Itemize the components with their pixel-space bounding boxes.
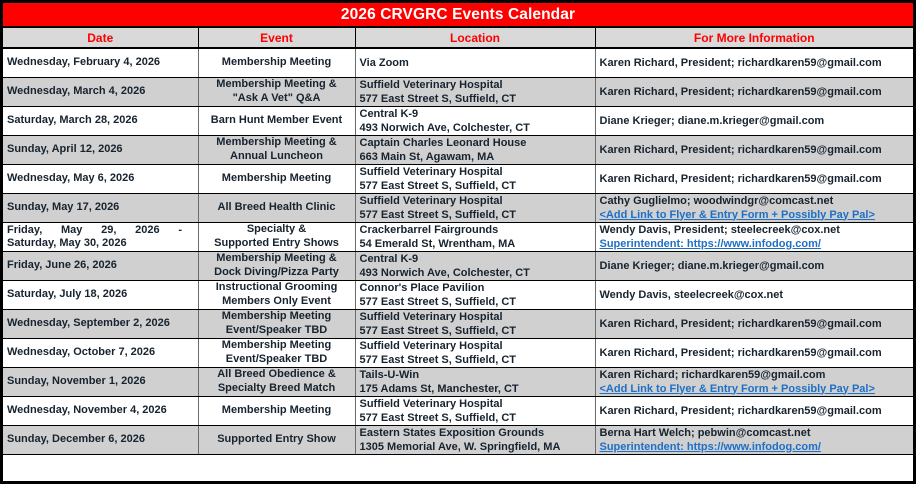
table-row: Wednesday, November 4, 2026Membership Me… <box>3 396 913 425</box>
date-line-1: Wednesday, October 7, 2026 <box>7 346 194 359</box>
cell-location: Crackerbarrel Fairgrounds54 Emerald St, … <box>355 222 595 251</box>
table-header-row: Date Event Location For More Information <box>3 28 913 48</box>
location-line-2: 577 East Street S, Suffield, CT <box>360 324 591 338</box>
cell-event: Supported Entry Show <box>198 425 355 454</box>
table-row: Friday, June 26, 2026Membership Meeting … <box>3 251 913 280</box>
cell-info: Karen Richard, President; richardkaren59… <box>595 309 913 338</box>
event-line-2: Annual Luncheon <box>203 150 351 164</box>
table-row: Wednesday, March 4, 2026Membership Meeti… <box>3 77 913 106</box>
location-line-1: Via Zoom <box>360 56 591 70</box>
event-line-2: Event/Speaker TBD <box>203 324 351 338</box>
events-table: Date Event Location For More Information… <box>3 28 913 455</box>
event-line-1: Supported Entry Show <box>203 433 351 447</box>
cell-event: Membership Meeting &Dock Diving/Pizza Pa… <box>198 251 355 280</box>
cell-date: Sunday, May 17, 2026 <box>3 193 198 222</box>
date-line-1: Wednesday, February 4, 2026 <box>7 56 194 69</box>
location-line-2: 54 Emerald St, Wrentham, MA <box>360 237 591 251</box>
location-line-2: 175 Adams St, Manchester, CT <box>360 382 591 396</box>
contact-line: Karen Richard, President; richardkaren59… <box>600 85 910 99</box>
location-line-1: Captain Charles Leonard House <box>360 136 591 150</box>
table-row: Sunday, May 17, 2026All Breed Health Cli… <box>3 193 913 222</box>
cell-location: Suffield Veterinary Hospital577 East Str… <box>355 309 595 338</box>
cell-event: Specialty &Supported Entry Shows <box>198 222 355 251</box>
contact-line: Karen Richard, President; richardkaren59… <box>600 172 910 186</box>
table-header: Date Event Location For More Information <box>3 28 913 48</box>
event-line-1: Membership Meeting <box>203 339 351 353</box>
cell-date: Friday, May 29, 2026 -Saturday, May 30, … <box>3 222 198 251</box>
date-line-1: Saturday, July 18, 2026 <box>7 288 194 301</box>
table-row: Sunday, November 1, 2026All Breed Obedie… <box>3 367 913 396</box>
cell-date: Wednesday, March 4, 2026 <box>3 77 198 106</box>
info-link[interactable]: <Add Link to Flyer & Entry Form + Possib… <box>600 208 910 222</box>
event-line-2: "Ask A Vet" Q&A <box>203 92 351 106</box>
event-line-2: Event/Speaker TBD <box>203 353 351 367</box>
location-line-1: Suffield Veterinary Hospital <box>360 194 591 208</box>
table-row: Wednesday, October 7, 2026Membership Mee… <box>3 338 913 367</box>
location-line-2: 493 Norwich Ave, Colchester, CT <box>360 266 591 280</box>
calendar-sheet: 2026 CRVGRC Events Calendar Date Event L… <box>0 0 916 484</box>
date-line-1: Wednesday, May 6, 2026 <box>7 172 194 185</box>
cell-date: Wednesday, May 6, 2026 <box>3 164 198 193</box>
cell-date: Friday, June 26, 2026 <box>3 251 198 280</box>
location-line-2: 577 East Street S, Suffield, CT <box>360 179 591 193</box>
table-row: Wednesday, February 4, 2026Membership Me… <box>3 48 913 77</box>
info-link[interactable]: Superintendent: https://www.infodog.com/ <box>600 440 910 454</box>
cell-info: Karen Richard, President; richardkaren59… <box>595 338 913 367</box>
cell-info: Wendy Davis, President; steelecreek@cox.… <box>595 222 913 251</box>
cell-location: Captain Charles Leonard House663 Main St… <box>355 135 595 164</box>
contact-line: Wendy Davis, steelecreek@cox.net <box>600 288 910 302</box>
table-row: Sunday, April 12, 2026Membership Meeting… <box>3 135 913 164</box>
table-row: Saturday, March 28, 2026Barn Hunt Member… <box>3 106 913 135</box>
contact-line: Berna Hart Welch; pebwin@comcast.net <box>600 426 910 440</box>
location-line-1: Central K-9 <box>360 107 591 121</box>
date-line-1: Wednesday, November 4, 2026 <box>7 404 194 417</box>
event-line-1: All Breed Obedience & <box>203 368 351 382</box>
location-line-1: Central K-9 <box>360 252 591 266</box>
cell-info: Berna Hart Welch; pebwin@comcast.netSupe… <box>595 425 913 454</box>
column-header-info: For More Information <box>595 28 913 48</box>
cell-event: Barn Hunt Member Event <box>198 106 355 135</box>
cell-info: Karen Richard, President; richardkaren59… <box>595 77 913 106</box>
location-line-1: Suffield Veterinary Hospital <box>360 78 591 92</box>
event-line-1: Barn Hunt Member Event <box>203 114 351 128</box>
cell-event: Membership Meeting <box>198 48 355 77</box>
cell-location: Connor's Place Pavilion577 East Street S… <box>355 280 595 309</box>
table-body: Wednesday, February 4, 2026Membership Me… <box>3 48 913 454</box>
cell-info: Cathy Guglielmo; woodwindgr@comcast.net<… <box>595 193 913 222</box>
column-header-date: Date <box>3 28 198 48</box>
event-line-1: Instructional Grooming <box>203 281 351 295</box>
cell-date: Sunday, November 1, 2026 <box>3 367 198 396</box>
date-line-2: Saturday, May 30, 2026 <box>7 237 194 250</box>
table-row: Wednesday, May 6, 2026Membership Meeting… <box>3 164 913 193</box>
cell-event: Membership Meeting &Annual Luncheon <box>198 135 355 164</box>
location-line-1: Suffield Veterinary Hospital <box>360 165 591 179</box>
event-line-1: Membership Meeting <box>203 404 351 418</box>
location-line-2: 663 Main St, Agawam, MA <box>360 150 591 164</box>
location-line-2: 577 East Street S, Suffield, CT <box>360 353 591 367</box>
location-line-2: 1305 Memorial Ave, W. Springfield, MA <box>360 440 591 454</box>
table-row: Friday, May 29, 2026 -Saturday, May 30, … <box>3 222 913 251</box>
cell-date: Wednesday, February 4, 2026 <box>3 48 198 77</box>
event-line-2: Dock Diving/Pizza Party <box>203 266 351 280</box>
cell-info: Karen Richard; richardkaren59@gmail.com<… <box>595 367 913 396</box>
cell-date: Wednesday, October 7, 2026 <box>3 338 198 367</box>
location-line-1: Connor's Place Pavilion <box>360 281 591 295</box>
column-header-event: Event <box>198 28 355 48</box>
location-line-2: 493 Norwich Ave, Colchester, CT <box>360 121 591 135</box>
cell-info: Karen Richard, President; richardkaren59… <box>595 164 913 193</box>
page-title: 2026 CRVGRC Events Calendar <box>341 7 575 23</box>
cell-event: Membership MeetingEvent/Speaker TBD <box>198 338 355 367</box>
cell-location: Suffield Veterinary Hospital577 East Str… <box>355 396 595 425</box>
cell-location: Suffield Veterinary Hospital577 East Str… <box>355 77 595 106</box>
cell-date: Sunday, December 6, 2026 <box>3 425 198 454</box>
cell-location: Via Zoom <box>355 48 595 77</box>
location-line-1: Crackerbarrel Fairgrounds <box>360 223 591 237</box>
date-line-1: Sunday, December 6, 2026 <box>7 433 194 446</box>
cell-info: Karen Richard, President; richardkaren59… <box>595 396 913 425</box>
cell-info: Karen Richard, President; richardkaren59… <box>595 48 913 77</box>
table-row: Saturday, July 18, 2026Instructional Gro… <box>3 280 913 309</box>
cell-info: Karen Richard, President; richardkaren59… <box>595 135 913 164</box>
date-line-1: Sunday, November 1, 2026 <box>7 375 194 388</box>
date-line-1: Wednesday, March 4, 2026 <box>7 85 194 98</box>
table-row: Sunday, December 6, 2026Supported Entry … <box>3 425 913 454</box>
contact-line: Karen Richard, President; richardkaren59… <box>600 346 910 360</box>
location-line-2: 577 East Street S, Suffield, CT <box>360 411 591 425</box>
date-line-1: Wednesday, September 2, 2026 <box>7 317 194 330</box>
event-line-1: Membership Meeting & <box>203 136 351 150</box>
location-line-1: Eastern States Exposition Grounds <box>360 426 591 440</box>
event-line-1: Specialty & <box>203 223 351 237</box>
contact-line: Karen Richard, President; richardkaren59… <box>600 143 910 157</box>
cell-date: Wednesday, November 4, 2026 <box>3 396 198 425</box>
contact-line: Karen Richard; richardkaren59@gmail.com <box>600 368 910 382</box>
cell-info: Diane Krieger; diane.m.krieger@gmail.com <box>595 106 913 135</box>
cell-date: Sunday, April 12, 2026 <box>3 135 198 164</box>
location-line-2: 577 East Street S, Suffield, CT <box>360 92 591 106</box>
cell-info: Wendy Davis, steelecreek@cox.net <box>595 280 913 309</box>
cell-event: Membership Meeting <box>198 164 355 193</box>
cell-location: Tails-U-Win175 Adams St, Manchester, CT <box>355 367 595 396</box>
event-line-1: All Breed Health Clinic <box>203 201 351 215</box>
info-link[interactable]: <Add Link to Flyer & Entry Form + Possib… <box>600 382 910 396</box>
event-line-1: Membership Meeting <box>203 310 351 324</box>
cell-event: Instructional GroomingMembers Only Event <box>198 280 355 309</box>
date-line-1: Friday, May 29, 2026 - <box>7 224 182 237</box>
date-line-1: Sunday, May 17, 2026 <box>7 201 194 214</box>
location-line-1: Tails-U-Win <box>360 368 591 382</box>
table-row: Wednesday, September 2, 2026Membership M… <box>3 309 913 338</box>
contact-line: Karen Richard, President; richardkaren59… <box>600 404 910 418</box>
contact-line: Karen Richard, President; richardkaren59… <box>600 56 910 70</box>
location-line-2: 577 East Street S, Suffield, CT <box>360 295 591 309</box>
contact-line: Wendy Davis, President; steelecreek@cox.… <box>600 223 910 237</box>
cell-location: Suffield Veterinary Hospital577 East Str… <box>355 338 595 367</box>
event-line-2: Supported Entry Shows <box>203 237 351 251</box>
cell-event: All Breed Obedience &Specialty Breed Mat… <box>198 367 355 396</box>
cell-event: Membership Meeting &"Ask A Vet" Q&A <box>198 77 355 106</box>
event-line-2: Members Only Event <box>203 295 351 309</box>
location-line-1: Suffield Veterinary Hospital <box>360 397 591 411</box>
cell-date: Saturday, July 18, 2026 <box>3 280 198 309</box>
cell-location: Suffield Veterinary Hospital577 East Str… <box>355 193 595 222</box>
cell-event: All Breed Health Clinic <box>198 193 355 222</box>
location-line-2: 577 East Street S, Suffield, CT <box>360 208 591 222</box>
cell-location: Eastern States Exposition Grounds1305 Me… <box>355 425 595 454</box>
date-line-1: Friday, June 26, 2026 <box>7 259 194 272</box>
contact-line: Karen Richard, President; richardkaren59… <box>600 317 910 331</box>
cell-location: Suffield Veterinary Hospital577 East Str… <box>355 164 595 193</box>
cell-info: Diane Krieger; diane.m.krieger@gmail.com <box>595 251 913 280</box>
event-line-1: Membership Meeting & <box>203 252 351 266</box>
contact-line: Cathy Guglielmo; woodwindgr@comcast.net <box>600 194 910 208</box>
column-header-location: Location <box>355 28 595 48</box>
event-line-1: Membership Meeting <box>203 172 351 186</box>
cell-event: Membership MeetingEvent/Speaker TBD <box>198 309 355 338</box>
cell-date: Wednesday, September 2, 2026 <box>3 309 198 338</box>
date-line-1: Sunday, April 12, 2026 <box>7 143 194 156</box>
info-link[interactable]: Superintendent: https://www.infodog.com/ <box>600 237 910 251</box>
contact-line: Diane Krieger; diane.m.krieger@gmail.com <box>600 114 910 128</box>
location-line-1: Suffield Veterinary Hospital <box>360 339 591 353</box>
event-line-1: Membership Meeting & <box>203 78 351 92</box>
contact-line: Diane Krieger; diane.m.krieger@gmail.com <box>600 259 910 273</box>
location-line-1: Suffield Veterinary Hospital <box>360 310 591 324</box>
cell-location: Central K-9493 Norwich Ave, Colchester, … <box>355 251 595 280</box>
cell-location: Central K-9493 Norwich Ave, Colchester, … <box>355 106 595 135</box>
date-line-1: Saturday, March 28, 2026 <box>7 114 194 127</box>
event-line-2: Specialty Breed Match <box>203 382 351 396</box>
event-line-1: Membership Meeting <box>203 56 351 70</box>
cell-event: Membership Meeting <box>198 396 355 425</box>
calendar-title-bar: 2026 CRVGRC Events Calendar <box>3 3 913 28</box>
cell-date: Saturday, March 28, 2026 <box>3 106 198 135</box>
